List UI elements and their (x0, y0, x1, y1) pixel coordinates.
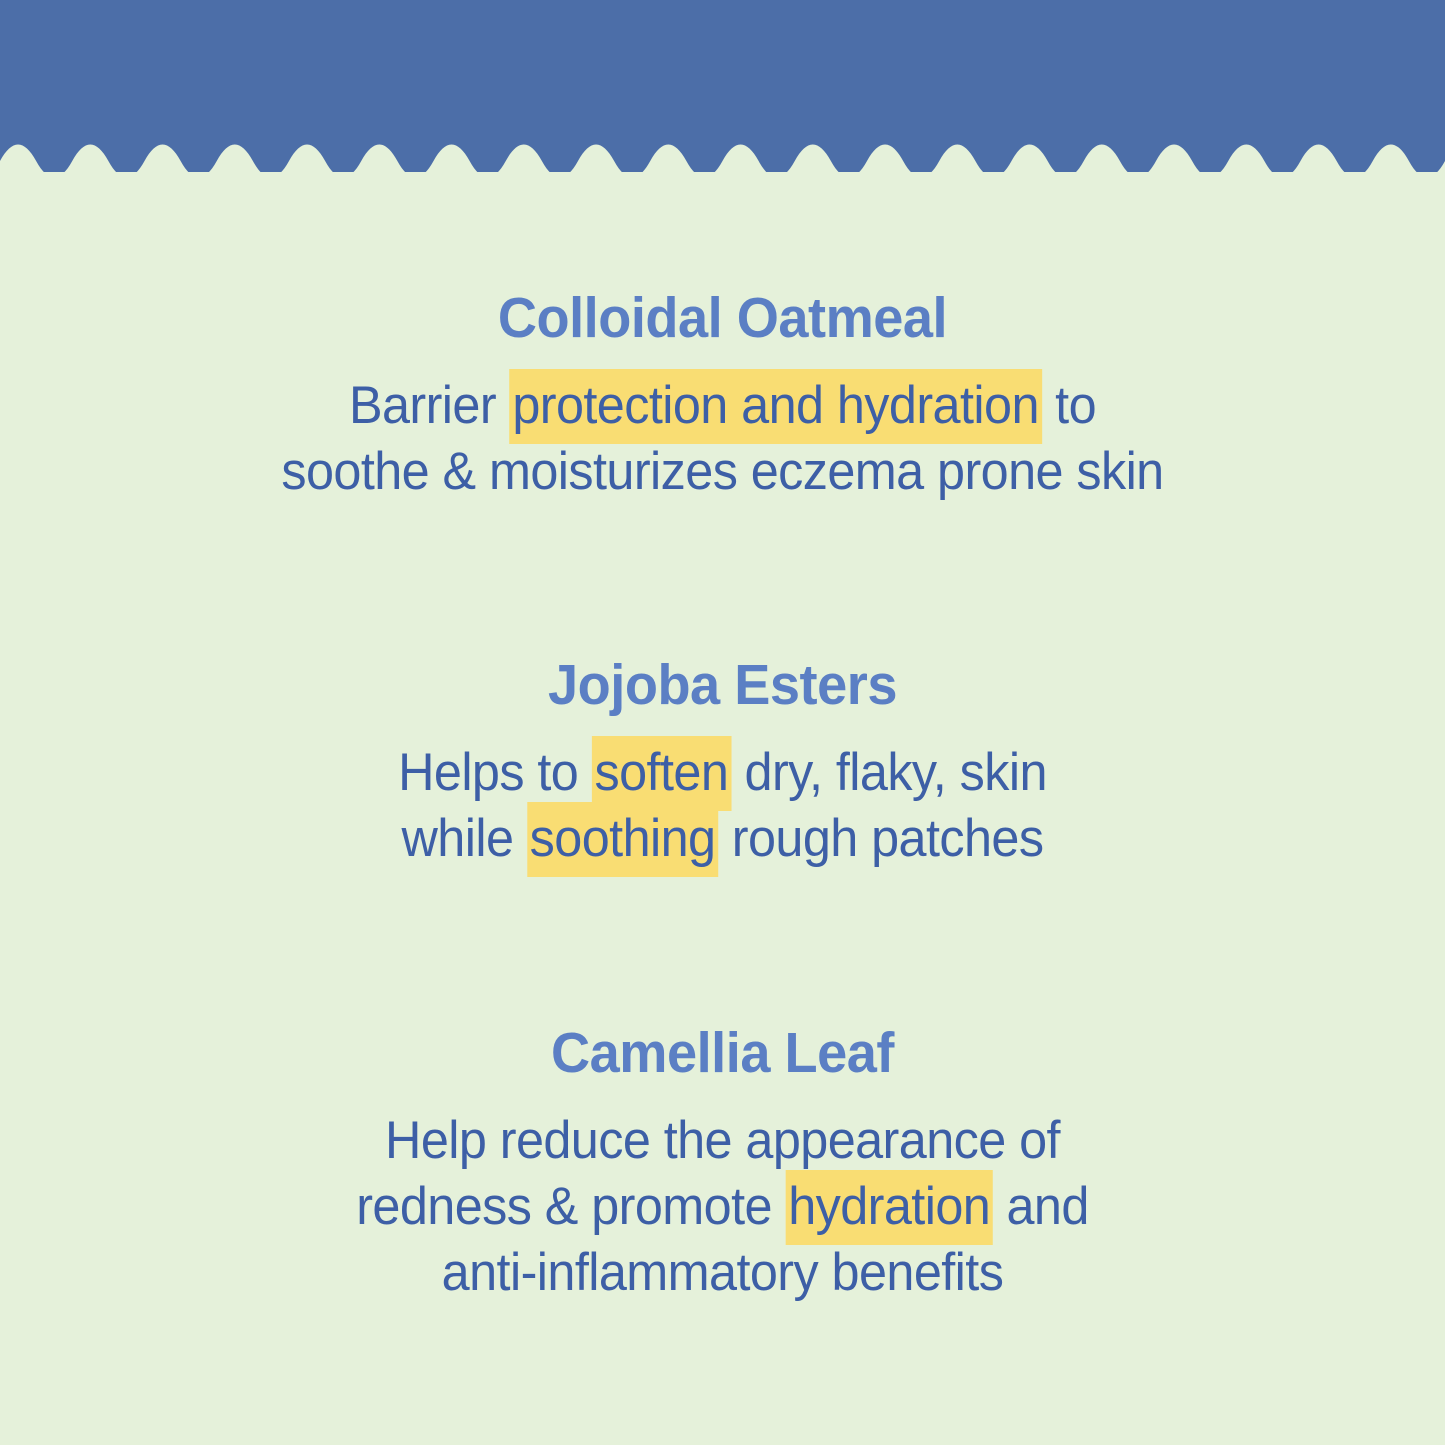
description-line: Helps to soften dry, flaky, skin (36, 740, 1409, 806)
text-run: to (1042, 376, 1096, 435)
text-run: redness & promote (356, 1177, 785, 1236)
text-run: soothe & moisturizes eczema prone skin (281, 442, 1163, 501)
text-run: while (402, 809, 527, 868)
highlighted-phrase: hydration (785, 1170, 993, 1245)
ingredients-infographic: GENTLE, SAFE, AND EFFECTIVE INGREDIENTS … (0, 0, 1445, 1445)
text-run: rough patches (718, 809, 1043, 868)
description-line: redness & promote hydration and (36, 1174, 1409, 1240)
text-run: Barrier (349, 376, 510, 435)
highlighted-phrase: soothing (527, 802, 719, 877)
ingredients-list: Colloidal Oatmeal Barrier protection and… (0, 172, 1445, 1445)
ingredient-description: Helps to soften dry, flaky, skin while s… (0, 740, 1445, 872)
ingredient-name: Camellia Leaf (36, 1020, 1409, 1086)
ingredient-block-camellia-leaf: Camellia Leaf Help reduce the appearance… (0, 1020, 1445, 1306)
ingredient-name: Jojoba Esters (36, 652, 1409, 718)
highlighted-phrase: soften (592, 736, 731, 811)
text-run: anti-inflammatory benefits (442, 1243, 1004, 1302)
text-run: and (993, 1177, 1089, 1236)
wave-divider-icon (0, 140, 1445, 180)
ingredient-block-colloidal-oatmeal: Colloidal Oatmeal Barrier protection and… (0, 285, 1445, 505)
text-run: dry, flaky, skin (731, 743, 1047, 802)
ingredient-description: Help reduce the appearance of redness & … (0, 1108, 1445, 1306)
description-line: Barrier protection and hydration to (36, 373, 1409, 439)
ingredient-name: Colloidal Oatmeal (36, 285, 1409, 351)
description-line: soothe & moisturizes eczema prone skin (36, 439, 1409, 505)
highlighted-phrase: protection and hydration (509, 369, 1041, 444)
ingredient-description: Barrier protection and hydration to soot… (0, 373, 1445, 505)
description-line: anti-inflammatory benefits (36, 1240, 1409, 1306)
description-line: Help reduce the appearance of (36, 1108, 1409, 1174)
text-run: Helps to (398, 743, 592, 802)
text-run: Help reduce the appearance of (385, 1111, 1060, 1170)
ingredient-block-jojoba-esters: Jojoba Esters Helps to soften dry, flaky… (0, 652, 1445, 872)
description-line: while soothing rough patches (36, 806, 1409, 872)
